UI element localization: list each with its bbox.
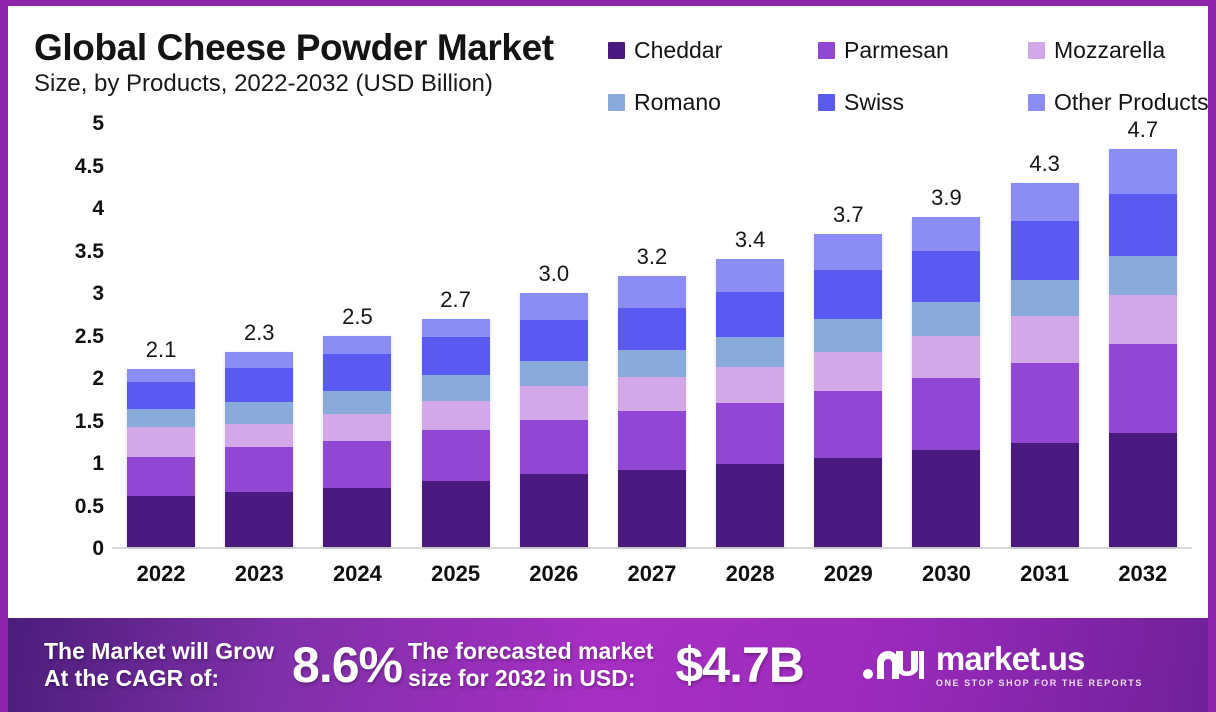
bar-segment-cheddar[interactable] [716,464,784,547]
bar-segment-swiss[interactable] [618,308,686,350]
bar-segment-mozzarella[interactable] [225,424,293,447]
bar-segment-parmesan[interactable] [422,430,490,481]
bar-value-label: 2.3 [244,320,275,346]
y-axis-tick-label: 1.5 [48,410,104,434]
bar-segment-romano[interactable] [618,350,686,377]
bar-segment-cheddar[interactable] [618,470,686,547]
x-axis-tick-label: 2024 [323,561,391,587]
bar-segment-mozzarella[interactable] [520,386,588,420]
bar-segment-cheddar[interactable] [225,492,293,547]
bar-value-label: 3.0 [538,261,569,287]
bar-segment-romano[interactable] [1109,256,1177,295]
x-axis: 2022202320242025202620272028202920302031… [112,554,1192,594]
legend-item-label: Mozzarella [1054,38,1165,62]
bar-segment-parmesan[interactable] [1011,363,1079,443]
bar-segment-parmesan[interactable] [127,457,195,497]
bar-segment-parmesan[interactable] [814,391,882,459]
bar-column-2023[interactable]: 2.3 [225,124,293,547]
y-axis-tick-label: 0.5 [48,495,104,519]
bar-segment-swiss[interactable] [1109,194,1177,256]
y-axis-tick-label: 3.5 [48,240,104,264]
bar-stack[interactable] [225,352,293,547]
bar-segment-other-products[interactable] [912,217,980,251]
bar-segment-mozzarella[interactable] [814,352,882,391]
cagr-value: 8.6% [292,636,402,694]
bar-segment-other-products[interactable] [520,293,588,320]
legend-swatch-icon [608,42,625,59]
bar-segment-romano[interactable] [127,409,195,427]
bar-segment-romano[interactable] [422,375,490,400]
market-us-logo-icon [862,644,924,687]
bar-column-2027[interactable]: 3.2 [618,124,686,547]
forecast-size-value: $4.7B [675,636,803,694]
bar-group: 2.12.32.52.73.03.23.43.73.94.34.7 [112,124,1192,547]
bar-column-2032[interactable]: 4.7 [1109,124,1177,547]
legend-item-parmesan[interactable]: Parmesan [818,38,1028,62]
y-axis-tick-label: 5 [48,112,104,136]
bar-value-label: 2.1 [146,337,177,363]
bar-segment-swiss[interactable] [814,270,882,319]
bar-segment-romano[interactable] [814,319,882,351]
x-axis-tick-label: 2029 [814,561,882,587]
bar-segment-mozzarella[interactable] [1109,295,1177,344]
bar-segment-other-products[interactable] [618,276,686,307]
legend-item-cheddar[interactable]: Cheddar [608,38,818,62]
bar-segment-mozzarella[interactable] [127,427,195,457]
bar-value-label: 3.4 [735,227,766,253]
bar-column-2022[interactable]: 2.1 [127,124,195,547]
bar-value-label: 3.7 [833,202,864,228]
bar-segment-cheddar[interactable] [127,496,195,547]
page-subtitle: Size, by Products, 2022-2032 (USD Billio… [34,69,554,99]
y-axis-tick-label: 3 [48,282,104,306]
bar-stack[interactable] [912,217,980,547]
bar-value-label: 3.2 [637,244,668,270]
bar-stack[interactable] [814,234,882,547]
bar-segment-cheddar[interactable] [912,450,980,547]
legend-item-mozzarella[interactable]: Mozzarella [1028,38,1208,62]
x-axis-tick-label: 2031 [1011,561,1079,587]
bars-plot: 2.12.32.52.73.03.23.43.73.94.34.7 [112,124,1192,549]
bar-value-label: 3.9 [931,185,962,211]
bar-segment-swiss[interactable] [716,292,784,337]
bar-segment-romano[interactable] [225,402,293,425]
bar-stack[interactable] [422,319,490,547]
bar-segment-other-products[interactable] [225,352,293,367]
bar-segment-cheddar[interactable] [1109,433,1177,547]
bar-segment-other-products[interactable] [127,369,195,382]
plot-area: 54.543.532.521.510.50 2.12.32.52.73.03.2… [8,102,1208,618]
bar-column-2026[interactable]: 3.0 [520,124,588,547]
x-axis-tick-label: 2025 [422,561,490,587]
bar-segment-other-products[interactable] [323,336,391,355]
bar-stack[interactable] [1011,183,1079,547]
bar-stack[interactable] [520,293,588,547]
bar-segment-swiss[interactable] [225,368,293,402]
bar-segment-cheddar[interactable] [323,488,391,547]
bar-segment-swiss[interactable] [422,337,490,375]
bar-segment-parmesan[interactable] [618,411,686,470]
x-axis-tick-label: 2028 [716,561,784,587]
legend-item-label: Cheddar [634,38,722,62]
bar-segment-mozzarella[interactable] [912,336,980,378]
forecast-size-label: The forecasted market size for 2032 in U… [408,638,653,692]
bar-segment-swiss[interactable] [323,354,391,390]
x-axis-tick-label: 2027 [618,561,686,587]
bar-stack[interactable] [1109,149,1177,547]
bar-segment-mozzarella[interactable] [422,401,490,431]
legend-item-label: Parmesan [844,38,949,62]
cagr-label: The Market will Grow At the CAGR of: [44,638,274,692]
bar-segment-romano[interactable] [520,361,588,386]
y-axis: 54.543.532.521.510.50 [48,124,104,549]
bar-segment-parmesan[interactable] [1109,344,1177,433]
bar-column-2025[interactable]: 2.7 [422,124,490,547]
x-axis-tick-label: 2032 [1109,561,1177,587]
bar-column-2029[interactable]: 3.7 [814,124,882,547]
x-axis-tick-label: 2022 [127,561,195,587]
bar-value-label: 4.3 [1029,151,1060,177]
bar-segment-other-products[interactable] [422,319,490,338]
bar-segment-mozzarella[interactable] [1011,316,1079,363]
chart-card: Global Cheese Powder Market Size, by Pro… [8,6,1208,712]
bar-segment-cheddar[interactable] [422,481,490,547]
bar-segment-swiss[interactable] [520,320,588,361]
bar-segment-other-products[interactable] [716,259,784,292]
y-axis-tick-label: 4.5 [48,155,104,179]
bar-segment-cheddar[interactable] [814,458,882,547]
bar-column-2028[interactable]: 3.4 [716,124,784,547]
y-axis-tick-label: 0 [48,537,104,561]
bar-segment-swiss[interactable] [1011,221,1079,280]
bar-segment-parmesan[interactable] [323,441,391,488]
bar-segment-swiss[interactable] [127,382,195,409]
chart-frame: Global Cheese Powder Market Size, by Pro… [0,0,1216,712]
bar-segment-cheddar[interactable] [1011,443,1079,547]
bar-stack[interactable] [323,336,391,548]
brand-logo-text: market.us ONE STOP SHOP FOR THE REPORTS [936,642,1143,689]
footer-banner: The Market will Grow At the CAGR of: 8.6… [8,618,1208,712]
bar-segment-mozzarella[interactable] [323,414,391,441]
legend-swatch-icon [1028,42,1045,59]
x-axis-tick-label: 2026 [520,561,588,587]
legend-swatch-icon [818,42,835,59]
bar-segment-other-products[interactable] [814,234,882,270]
bar-column-2024[interactable]: 2.5 [323,124,391,547]
bar-segment-romano[interactable] [716,337,784,367]
bar-segment-parmesan[interactable] [912,378,980,450]
bar-segment-mozzarella[interactable] [716,367,784,403]
title-block: Global Cheese Powder Market Size, by Pro… [34,28,554,99]
y-axis-tick-label: 2 [48,367,104,391]
bar-segment-swiss[interactable] [912,251,980,302]
bar-value-label: 2.7 [440,287,471,313]
y-axis-tick-label: 2.5 [48,325,104,349]
brand-logo[interactable]: market.us ONE STOP SHOP FOR THE REPORTS [862,642,1143,689]
bar-segment-parmesan[interactable] [225,447,293,492]
brand-tagline: ONE STOP SHOP FOR THE REPORTS [936,677,1143,689]
bar-segment-cheddar[interactable] [520,474,588,547]
bar-segment-parmesan[interactable] [716,403,784,464]
bar-segment-parmesan[interactable] [520,420,588,474]
page-title: Global Cheese Powder Market [34,28,554,68]
bar-segment-romano[interactable] [912,302,980,336]
chart-header: Global Cheese Powder Market Size, by Pro… [8,6,1208,102]
bar-segment-other-products[interactable] [1109,149,1177,194]
bar-value-label: 4.7 [1128,117,1159,143]
bar-segment-other-products[interactable] [1011,183,1079,220]
bar-stack[interactable] [127,369,195,547]
bar-column-2030[interactable]: 3.9 [912,124,980,547]
bar-stack[interactable] [716,259,784,547]
bar-column-2031[interactable]: 4.3 [1011,124,1079,547]
x-axis-tick-label: 2030 [912,561,980,587]
bar-stack[interactable] [618,276,686,547]
brand-name: market.us [936,642,1143,676]
bar-value-label: 2.5 [342,304,373,330]
bar-segment-romano[interactable] [1011,280,1079,316]
bar-segment-mozzarella[interactable] [618,377,686,411]
y-axis-tick-label: 4 [48,197,104,221]
x-axis-tick-label: 2023 [225,561,293,587]
bar-segment-romano[interactable] [323,391,391,415]
y-axis-tick-label: 1 [48,452,104,476]
